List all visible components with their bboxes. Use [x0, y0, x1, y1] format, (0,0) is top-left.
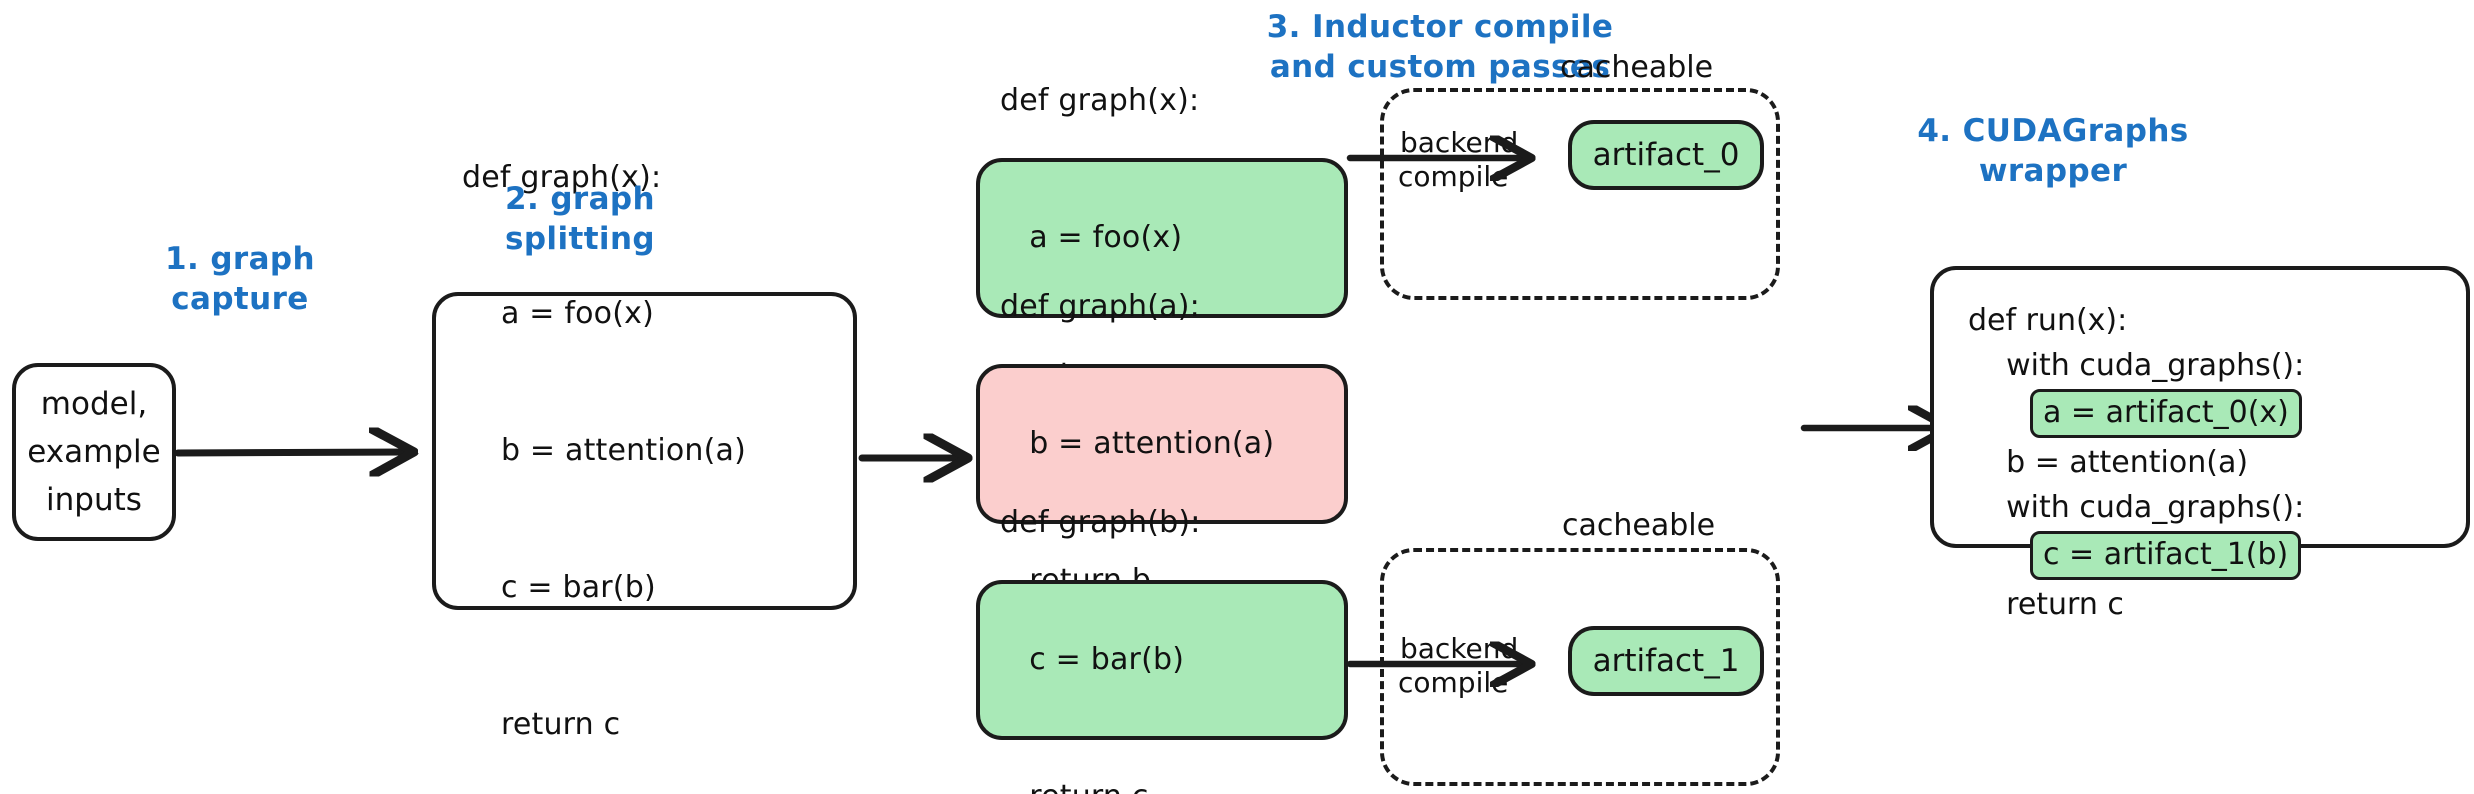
- step-label-cudagraphs-wrapper: 4. CUDAGraphs wrapper: [1888, 112, 2218, 191]
- run-line-return: return c: [1968, 582, 2466, 627]
- node-artifact-0-label: artifact_0: [1572, 137, 1760, 173]
- run-line-with-2: with cuda_graphs():: [1968, 485, 2466, 530]
- run-chip-artifact-0[interactable]: a = artifact_0(x): [2030, 389, 2302, 438]
- arrow-compile-to-artifact-1: [1348, 634, 1568, 704]
- node-subgraph-bar[interactable]: def graph(b): c = bar(b) return c: [976, 580, 1348, 740]
- node-artifact-1[interactable]: artifact_1: [1568, 626, 1764, 696]
- diagram-canvas: 1. graph capture model, example inputs d…: [0, 0, 2474, 794]
- cacheable-label-bottom: cacheable: [1562, 508, 1715, 543]
- node-captured-graph-code: def graph(x): a = foo(x) b = attention(a…: [462, 63, 746, 794]
- node-model-example-inputs[interactable]: model, example inputs: [12, 363, 176, 541]
- step-label-graph-capture: 1. graph capture: [150, 240, 330, 319]
- cacheable-label-top: cacheable: [1560, 50, 1713, 85]
- run-line-def: def run(x):: [1968, 298, 2466, 343]
- node-captured-graph[interactable]: def graph(x): a = foo(x) b = attention(a…: [432, 292, 857, 610]
- node-artifact-1-label: artifact_1: [1572, 643, 1760, 679]
- node-subgraph-bar-code: def graph(b): c = bar(b) return c: [1000, 409, 1201, 794]
- step-label-graph-splitting: 2. graph splitting: [485, 180, 675, 259]
- run-line-with-1: with cuda_graphs():: [1968, 343, 2466, 388]
- node-model-example-inputs-label: model, example inputs: [16, 380, 172, 524]
- run-chip-artifact-1[interactable]: c = artifact_1(b): [2030, 531, 2301, 580]
- arrow-input-to-graph: [176, 418, 434, 488]
- arrow-compile-to-artifact-0: [1348, 128, 1568, 198]
- run-line-attention: b = attention(a): [1968, 440, 2466, 485]
- node-artifact-0[interactable]: artifact_0: [1568, 120, 1764, 190]
- node-runtime-wrapper[interactable]: def run(x): with cuda_graphs(): a = arti…: [1930, 266, 2470, 548]
- arrow-graph-to-subgraphs: [860, 430, 990, 490]
